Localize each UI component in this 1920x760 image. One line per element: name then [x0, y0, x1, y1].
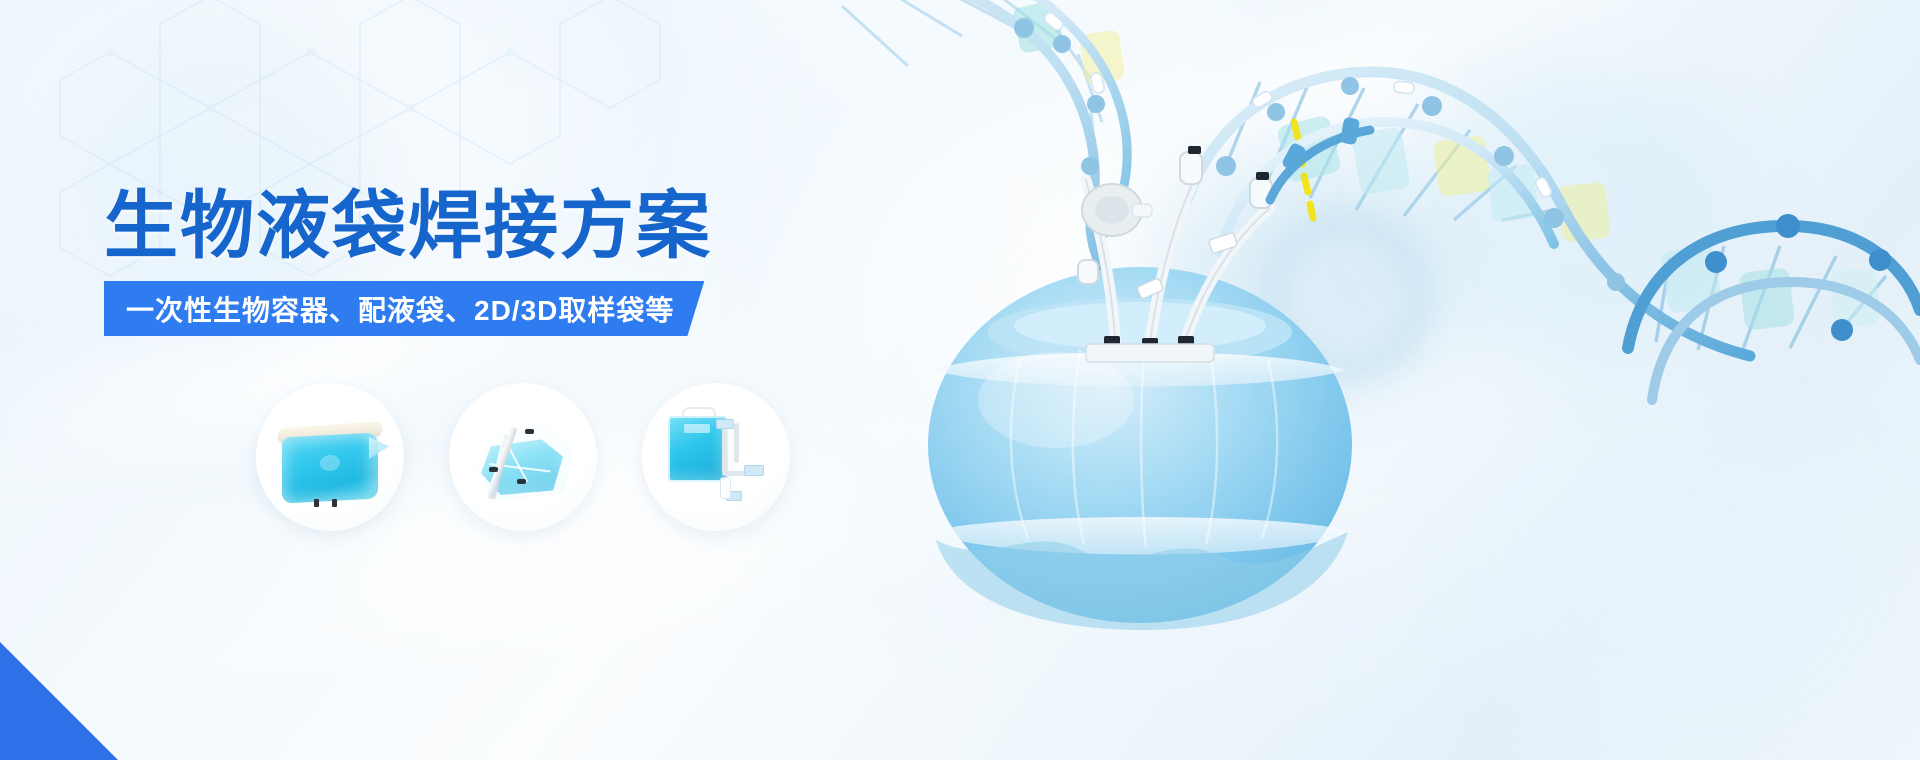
background-blur-blob	[60, 20, 380, 320]
background-blur-blob	[1480, 420, 1900, 750]
tube-clamp	[489, 467, 498, 472]
background-blur-blob	[1380, 60, 1740, 360]
bag-port	[332, 499, 337, 507]
background-ring-blur	[1260, 210, 1432, 382]
subtitle-ribbon: 一次性生物容器、配液袋、2D/3D取样袋等	[104, 281, 704, 336]
bag-label	[684, 424, 710, 433]
sample-line	[722, 423, 727, 473]
tube-clamp	[525, 429, 534, 434]
product-circle-group	[250, 383, 850, 563]
cube-bag-icon	[463, 417, 581, 509]
pillow-liquid-bag-icon	[276, 419, 384, 503]
line-connector	[716, 419, 734, 429]
tube-clamp	[517, 479, 526, 484]
product-circle-sampling-bag[interactable]	[642, 383, 790, 531]
product-circle-cube-bag-with-tubing[interactable]	[449, 383, 597, 531]
bag-corner-wing	[369, 437, 389, 459]
product-circle-pillow-liquid-bag[interactable]	[256, 383, 404, 531]
banner-stage: 生物液袋焊接方案 一次性生物容器、配液袋、2D/3D取样袋等	[0, 0, 1920, 760]
page-title: 生物液袋焊接方案	[104, 186, 712, 266]
sample-line	[734, 423, 739, 463]
sampling-bag-icon	[660, 407, 772, 515]
bag-liquid-body	[282, 432, 378, 503]
bag-port	[314, 499, 319, 507]
corner-wedge	[0, 642, 118, 760]
line-connector	[744, 465, 764, 476]
drip-chamber	[720, 477, 731, 499]
